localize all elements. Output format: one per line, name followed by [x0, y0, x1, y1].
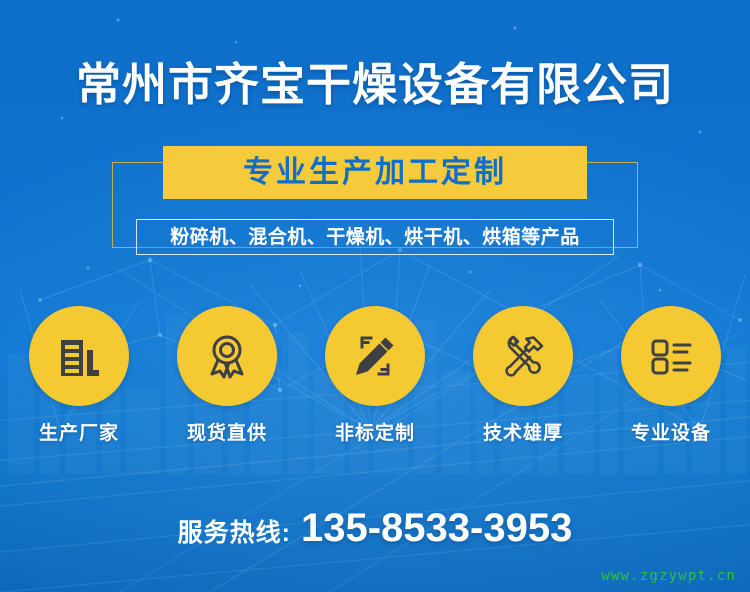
feature-icon-circle — [621, 306, 721, 406]
feature-label: 技术雄厚 — [483, 424, 563, 443]
feature-icon-circle — [29, 306, 129, 406]
product-list-box: 粉碎机、混合机、干燥机、烘干机、烘箱等产品 — [136, 219, 614, 255]
company-title: 常州市齐宝干燥设备有限公司 — [0, 62, 750, 107]
feature-icon-circle — [177, 306, 277, 406]
feature-label: 现货直供 — [187, 424, 267, 443]
factory-building-icon — [53, 330, 105, 382]
award-ribbon-icon — [201, 330, 253, 382]
product-list-text: 粉碎机、混合机、干燥机、烘干机、烘箱等产品 — [170, 228, 580, 247]
feature-label: 生产厂家 — [39, 424, 119, 443]
list-checklist-icon — [645, 330, 697, 382]
promotional-banner: 常州市齐宝干燥设备有限公司 专业生产加工定制 粉碎机、混合机、干燥机、烘干机、烘… — [0, 0, 750, 592]
feature-icon-circle — [325, 306, 425, 406]
tagline-highlight-box: 专业生产加工定制 — [163, 146, 587, 199]
feature-item-stock-supply[interactable]: 现货直供 — [165, 306, 289, 443]
tagline-text: 专业生产加工定制 — [243, 158, 507, 188]
service-hotline: 服务热线: 135-8533-3953 — [0, 508, 750, 548]
feature-item-manufacturer[interactable]: 生产厂家 — [17, 306, 141, 443]
feature-item-professional-equipment[interactable]: 专业设备 — [609, 306, 733, 443]
feature-icon-circle — [473, 306, 573, 406]
feature-label: 非标定制 — [335, 424, 415, 443]
feature-label: 专业设备 — [631, 424, 711, 443]
hotline-number[interactable]: 135-8533-3953 — [301, 508, 572, 548]
pencil-ruler-icon — [349, 330, 401, 382]
feature-list: 生产厂家 现货直供 — [0, 306, 750, 443]
feature-item-custom-made[interactable]: 非标定制 — [313, 306, 437, 443]
website-watermark[interactable]: www.zgzywpt.cn — [601, 569, 736, 583]
hotline-label: 服务热线: — [178, 521, 291, 546]
feature-item-technical-strength[interactable]: 技术雄厚 — [461, 306, 585, 443]
wrench-hammer-icon — [497, 330, 549, 382]
